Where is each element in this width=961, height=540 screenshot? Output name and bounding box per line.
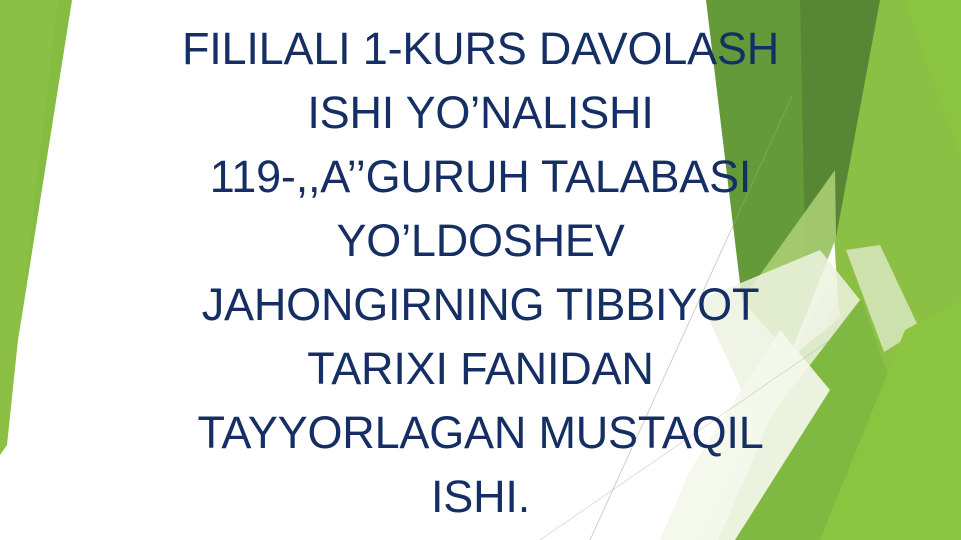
title-line-5: JAHONGIRNING TIBBIYOT: [202, 273, 760, 337]
presentation-slide: FILILALI 1-KURS DAVOLASH ISHI YO’NALISHI…: [0, 0, 961, 540]
title-line-2: ISHI YO’NALISHI: [307, 81, 653, 145]
title-line-1: FILILALI 1-KURS DAVOLASH: [182, 17, 779, 81]
title-line-4: YO’LDOSHEV: [336, 209, 624, 273]
slide-title: FILILALI 1-KURS DAVOLASH ISHI YO’NALISHI…: [0, 0, 961, 540]
title-line-7: TAYYORLAGAN MUSTAQIL: [197, 401, 763, 465]
title-line-8: ISHI.: [431, 465, 530, 529]
title-line-3: 119-,,A’’GURUH TALABASI: [210, 145, 751, 209]
title-line-6: TARIXI FANIDAN: [307, 337, 653, 401]
